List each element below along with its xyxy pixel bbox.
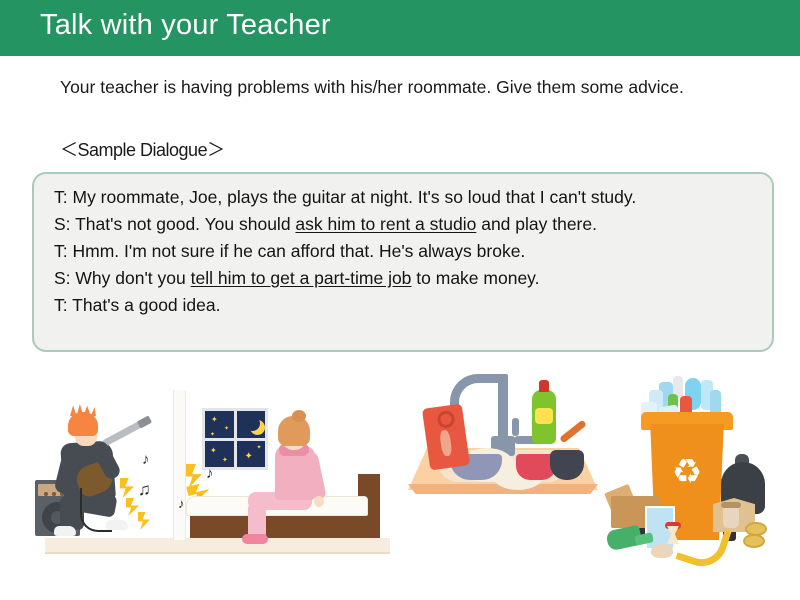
dirty-pan-dark [550,450,584,480]
star-icon: ✦ [257,444,262,452]
amp-knob [52,492,56,496]
window-pane: ✦ ✦ [205,441,234,468]
star-icon: ✦ [210,447,217,455]
window-pane: ✦ ✦ [237,441,266,468]
star-icon: ✦ [211,416,218,424]
music-note-icon: ♪ [206,466,214,481]
line-text-before: That's a good idea. [68,295,221,315]
illustration-dirty-dishes [398,366,608,506]
cutting-board [422,404,470,471]
dialogue-line: T: Hmm. I'm not sure if he can afford th… [54,238,762,265]
dialogue-line: S: Why don't you tell him to get a part-… [54,265,762,292]
star-icon: ✦ [224,425,229,433]
soap-cap [539,380,549,392]
window-pane: ✦ ✦ ✦ [205,411,234,438]
dialogue-line: T: That's a good idea. [54,292,762,319]
sample-dialogue-label: ＜Sample Dialogue＞ [60,136,225,162]
cutting-board-stain [439,430,453,457]
speaker-label: S: [54,214,71,234]
sound-bolt-icon [138,512,150,530]
line-text-after: to make money. [411,268,539,288]
sample-dialogue-box: T: My roommate, Joe, plays the guitar at… [32,172,774,352]
speaker-label: T: [54,241,68,261]
faucet-column [498,374,508,444]
page-title: Talk with your Teacher [40,9,331,42]
crescent-moon-icon [245,416,260,431]
soap-label [535,408,553,424]
woman-hair-bun [292,410,306,422]
line-text-underlined: ask him to rent a studio [295,214,476,234]
line-text-before: That's not good. You should [71,214,296,234]
star-icon: ✦ [222,457,228,465]
sound-bolt-icon [120,478,134,498]
music-note-icon: ♫ [138,482,151,497]
instruction-text: Your teacher is having problems with his… [60,74,760,100]
line-text-before: Hmm. I'm not sure if he can afford that.… [68,241,526,261]
cutting-board-hole [436,410,455,429]
eggshell-waste [651,544,673,558]
music-note-icon: ♪ [142,452,150,467]
speaker-label: T: [54,295,68,315]
recycle-icon: ♻ [669,454,705,490]
line-text-before: Why don't you [71,268,191,288]
line-text-underlined: tell him to get a part-time job [191,268,412,288]
coffee-cup-lid [721,502,741,508]
music-note-icon: ♪ [178,496,185,511]
line-text-after: and play there. [476,214,597,234]
dish-soap-bottle [532,390,556,444]
dialogue-lines: T: My roommate, Joe, plays the guitar at… [54,184,762,319]
star-icon: ✦ [245,453,253,461]
woman-slipper [242,534,268,544]
night-window-icon: ✦ ✦ ✦ ✦ ✦ ✦ ✦ [202,408,268,470]
dialogue-line: T: My roommate, Joe, plays the guitar at… [54,184,762,211]
wall-divider [173,390,186,540]
pan-handle [559,420,587,444]
speaker-label: T: [54,187,68,207]
tin-can [743,534,765,548]
coffee-cup-waste [723,506,739,528]
guitar-neck [102,421,142,447]
faucet-knob[interactable] [512,418,519,436]
illustration-overflowing-trash: ♻ [605,376,795,572]
woman-hand [314,496,324,507]
guitarist-hair [68,412,98,436]
speaker-label: S: [54,268,71,288]
window-pane [237,411,266,438]
illustration-noisy-roommate: ✦ ✦ ✦ ✦ ✦ ✦ ✦ [20,368,395,568]
sound-bolt-icon [186,464,202,488]
star-icon: ✦ [210,431,215,438]
guitarist-shoe [54,526,76,536]
header-bar: Talk with your Teacher [0,0,800,56]
guitar-cable [80,488,112,532]
dialogue-line: S: That's not good. You should ask him t… [54,211,762,238]
line-text-before: My roommate, Joe, plays the guitar at ni… [68,187,637,207]
sound-bolt-icon [126,498,139,516]
floor [45,538,390,554]
guitar-headstock [137,415,152,428]
amp-knob [44,492,48,496]
